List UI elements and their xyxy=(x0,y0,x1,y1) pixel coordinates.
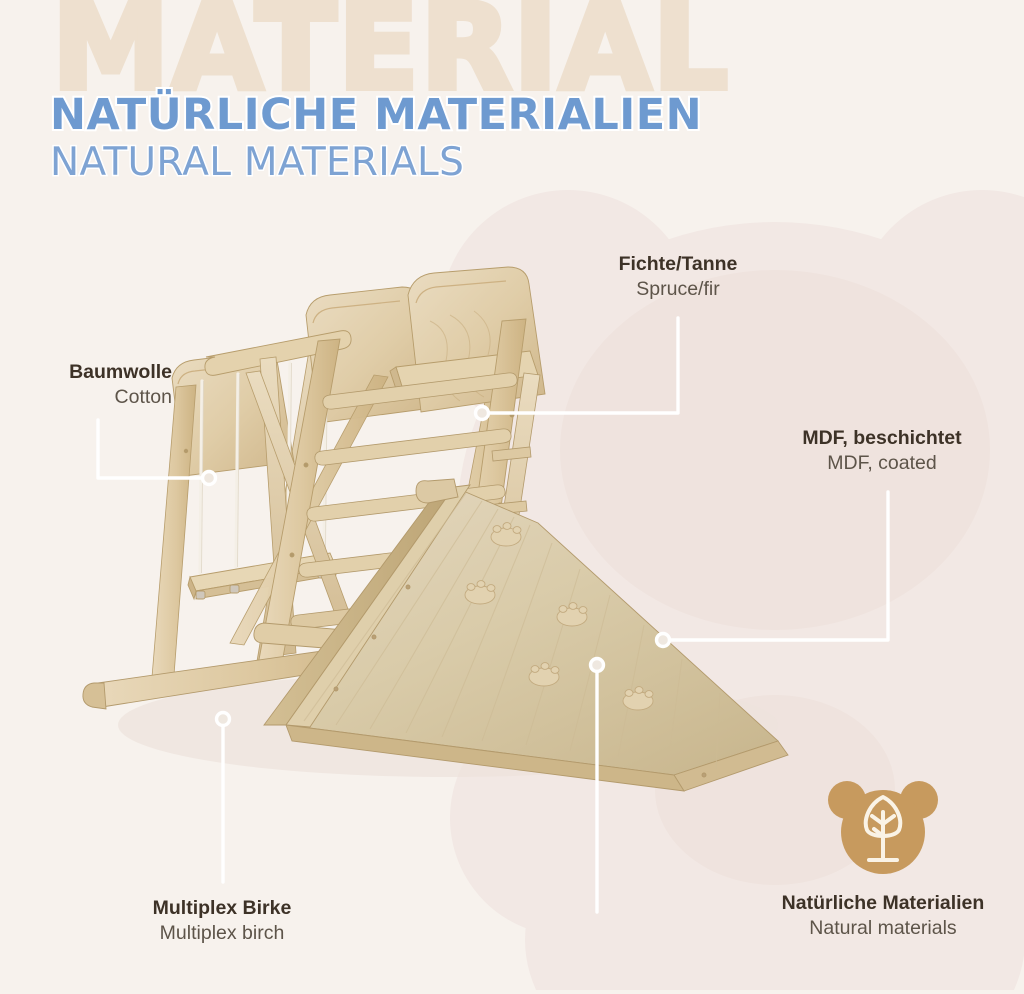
page-title-de: NATÜRLICHE MATERIALIEN xyxy=(50,92,702,138)
page-title-block: NATÜRLICHE MATERIALIEN NATURAL MATERIALS xyxy=(50,92,702,184)
badge-label-de: Natürliche Materialien xyxy=(752,891,1014,916)
callout-cotton-de: Baumwolle xyxy=(0,360,172,385)
callout-birch: Multiplex Birke Multiplex birch xyxy=(82,896,362,946)
bear-head-with-tree-icon xyxy=(823,776,943,880)
callout-mdf-en: MDF, coated xyxy=(742,451,1022,476)
callout-spruce-en: Spruce/fir xyxy=(540,277,816,302)
infographic-root: MATERIAL NATÜRLICHE MATERIALIEN NATURAL … xyxy=(0,0,1024,994)
callout-cotton: Baumwolle Cotton xyxy=(0,360,172,410)
callout-mdf-de: MDF, beschichtet xyxy=(742,426,1022,451)
callout-spruce-de: Fichte/Tanne xyxy=(540,252,816,277)
callout-cotton-en: Cotton xyxy=(0,385,172,410)
callout-birch-de: Multiplex Birke xyxy=(82,896,362,921)
callout-mdf: MDF, beschichtet MDF, coated xyxy=(742,426,1022,476)
callout-spruce: Fichte/Tanne Spruce/fir xyxy=(540,252,816,302)
page-title-en: NATURAL MATERIALS xyxy=(50,142,702,184)
callout-birch-en: Multiplex birch xyxy=(82,921,362,946)
product-illustration xyxy=(78,255,818,815)
badge-label-en: Natural materials xyxy=(752,916,1014,941)
natural-materials-badge: Natürliche Materialien Natural materials xyxy=(752,776,1014,954)
